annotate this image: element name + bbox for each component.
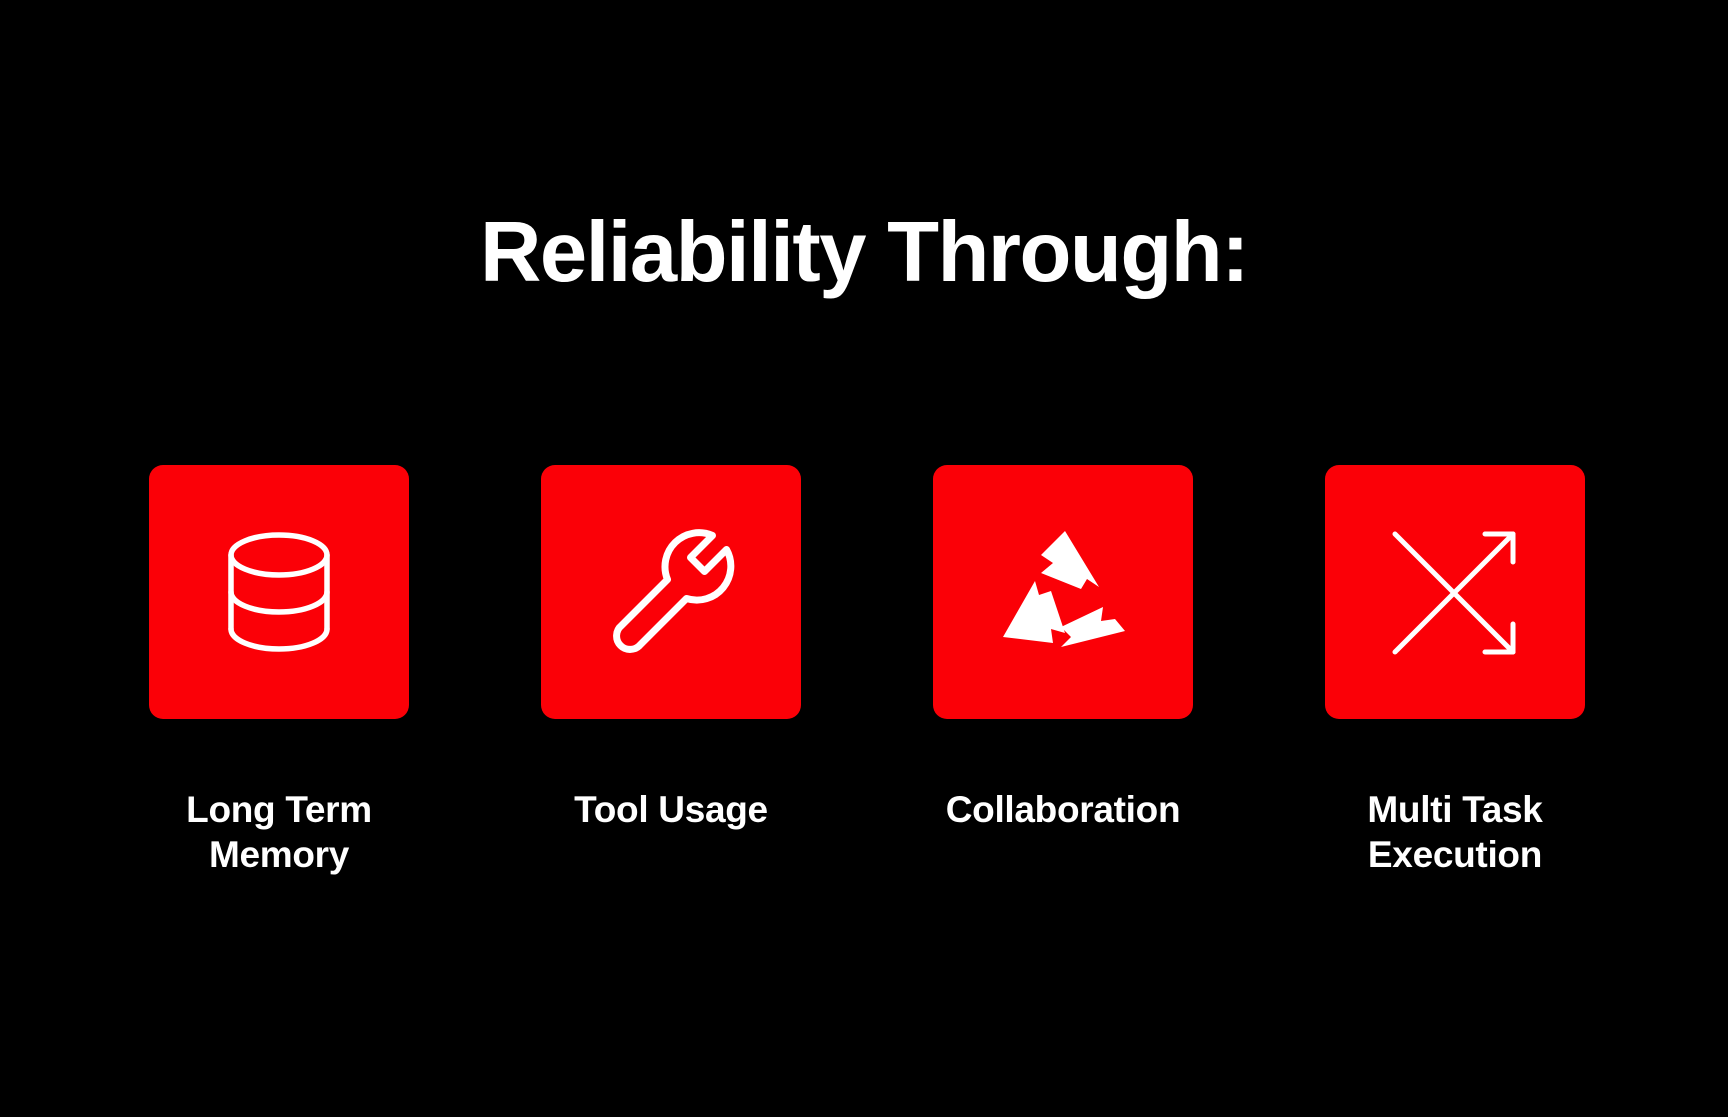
card-label: Collaboration (946, 787, 1181, 832)
shuffle-arrows-icon (1389, 526, 1521, 658)
card-label: Multi Task Execution (1367, 787, 1542, 877)
page-title: Reliability Through: (0, 208, 1728, 297)
card-label: Tool Usage (574, 787, 768, 832)
icon-tile[interactable] (933, 465, 1193, 719)
feature-card-row: Long Term Memory Tool Usage (149, 465, 1585, 877)
feature-card-multi-task-execution[interactable]: Multi Task Execution (1325, 465, 1585, 877)
feature-card-collaboration[interactable]: Collaboration (933, 465, 1193, 832)
icon-tile[interactable] (149, 465, 409, 719)
card-label: Long Term Memory (186, 787, 372, 877)
slide-canvas: Reliability Through: Long Term Memory (0, 0, 1728, 1117)
icon-tile[interactable] (1325, 465, 1585, 719)
feature-card-tool-usage[interactable]: Tool Usage (541, 465, 801, 832)
wrench-icon (605, 526, 737, 658)
icon-tile[interactable] (541, 465, 801, 719)
database-icon (219, 531, 339, 653)
feature-card-long-term-memory[interactable]: Long Term Memory (149, 465, 409, 877)
recycle-arrows-icon (995, 529, 1131, 655)
